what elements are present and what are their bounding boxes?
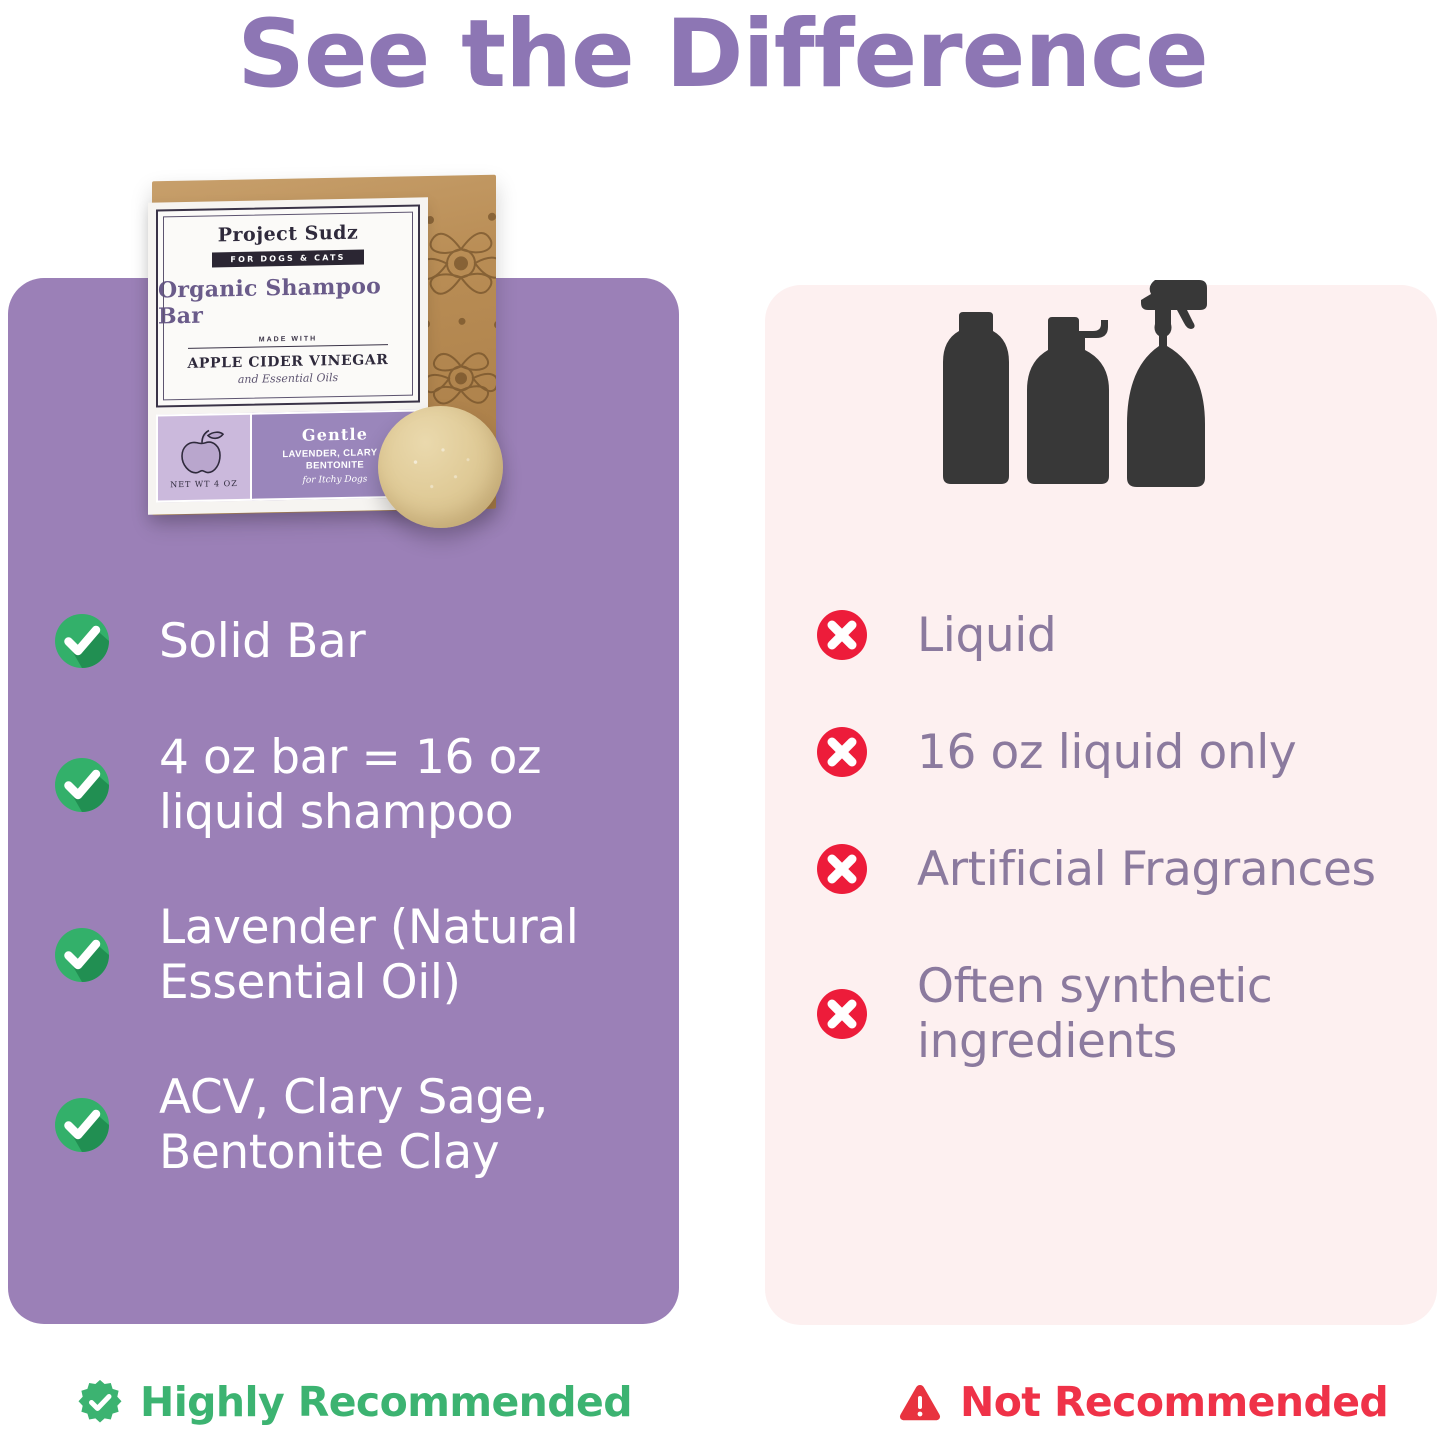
benefits-list: Solid Bar 4 oz bar = 16 oz liquid shampo… (8, 612, 679, 1180)
check-circle-icon (53, 756, 111, 814)
bottle-silhouettes-icon (915, 228, 1235, 518)
x-circle-icon (815, 842, 869, 896)
list-item: ACV, Clary Sage, Bentonite Clay (8, 1070, 679, 1180)
list-item: Liquid (765, 608, 1437, 663)
list-item-label: Artificial Fragrances (917, 842, 1376, 897)
footer-recommended-label: Highly Recommended (140, 1378, 632, 1426)
package-product-title: Organic Shampoo Bar (158, 273, 418, 330)
list-item: 16 oz liquid only (765, 725, 1437, 780)
x-circle-icon (815, 608, 869, 662)
list-item: Lavender (Natural Essential Oil) (8, 900, 679, 1010)
x-circle-icon (815, 725, 869, 779)
package-made-with: MADE WITH (259, 335, 317, 343)
list-item: 4 oz bar = 16 oz liquid shampoo (8, 730, 679, 840)
list-item: Solid Bar (8, 612, 679, 670)
x-circle-icon (815, 987, 869, 1041)
footer-recommended: Highly Recommended (78, 1378, 632, 1426)
list-item-label: Liquid (917, 608, 1056, 663)
infographic-root: See the Difference (0, 0, 1445, 1433)
list-item: Artificial Fragrances (765, 842, 1437, 897)
footer-not-recommended: Not Recommended (898, 1378, 1388, 1426)
verified-badge-icon (78, 1380, 122, 1424)
liquid-bottles-illustration (915, 228, 1235, 518)
list-item-label: 16 oz liquid only (917, 725, 1296, 780)
package-ingredient-main: APPLE CIDER VINEGAR (187, 352, 388, 372)
list-item: Often synthetic ingredients (765, 959, 1437, 1069)
check-circle-icon (53, 926, 111, 984)
package-netweight-block: NET WT 4 OZ (156, 413, 252, 503)
check-circle-icon (53, 612, 111, 670)
product-package-image: Project Sudz FOR DOGS & CATS Organic Sha… (148, 178, 496, 518)
shampoo-bar-disc (378, 406, 503, 528)
package-ingredient-sub: and Essential Oils (238, 371, 338, 386)
package-top-label: Project Sudz FOR DOGS & CATS Organic Sha… (156, 204, 420, 407)
list-item-label: Solid Bar (159, 614, 365, 669)
check-circle-icon (53, 1096, 111, 1154)
package-variant-name: Gentle (302, 425, 368, 445)
page-title: See the Difference (0, 4, 1445, 106)
footer-not-recommended-label: Not Recommended (960, 1378, 1388, 1426)
warning-triangle-icon (898, 1380, 942, 1424)
package-for-who: for Itchy Dogs (303, 474, 368, 485)
package-audience: FOR DOGS & CATS (212, 250, 363, 268)
list-item-label: 4 oz bar = 16 oz liquid shampoo (159, 730, 541, 840)
list-item-label: Often synthetic ingredients (917, 959, 1272, 1069)
divider (188, 344, 388, 349)
list-item-label: ACV, Clary Sage, Bentonite Clay (159, 1070, 548, 1180)
package-net-weight: NET WT 4 OZ (170, 479, 238, 489)
brand-name: Project Sudz (218, 222, 359, 247)
apples-illustration-icon (175, 426, 233, 477)
list-item-label: Lavender (Natural Essential Oil) (159, 900, 578, 1010)
drawbacks-list: Liquid 16 oz liquid only Artificial Frag… (765, 608, 1437, 1069)
